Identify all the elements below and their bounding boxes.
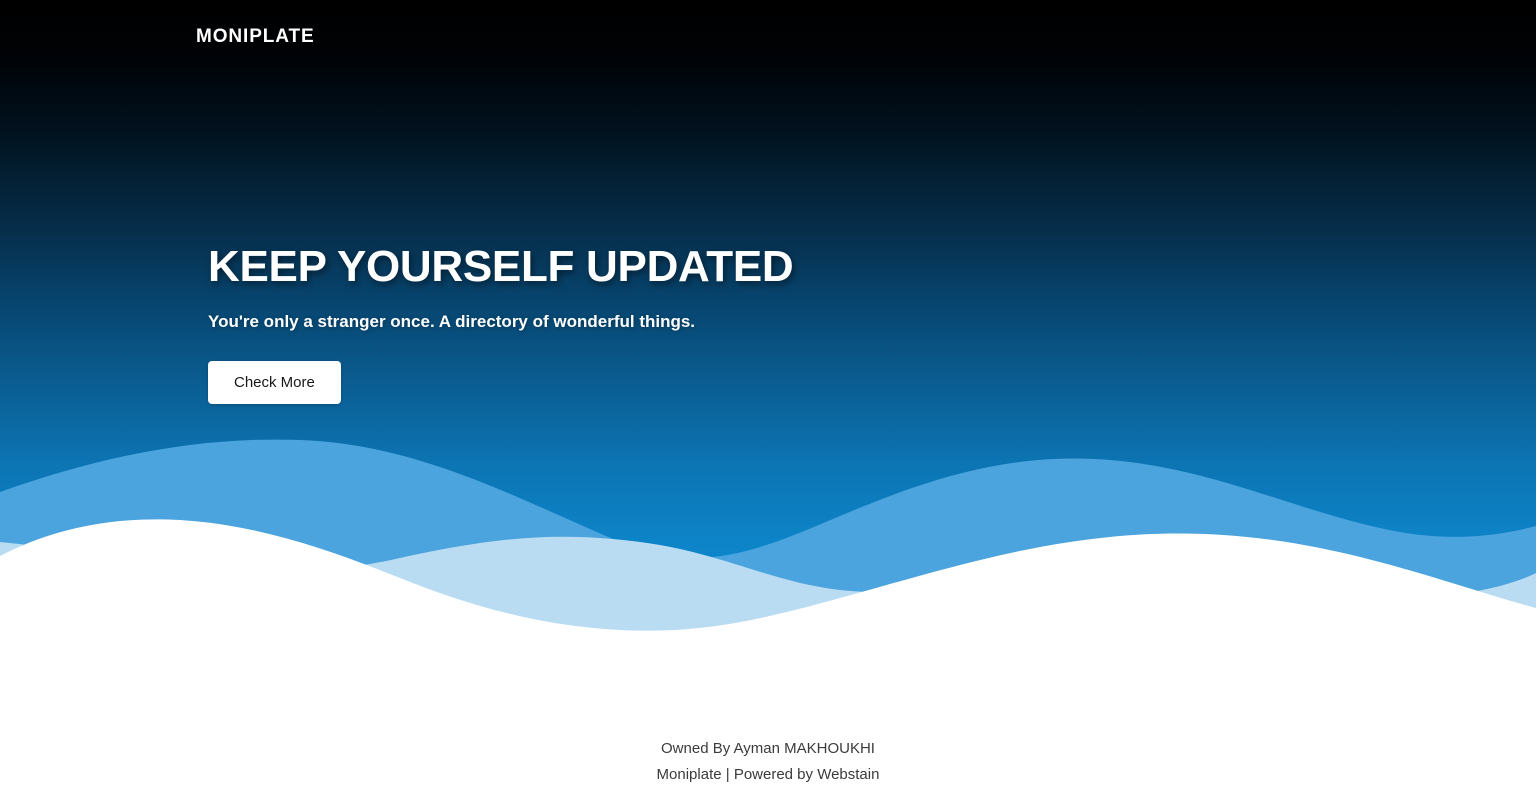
navbar: MONIPLATE <box>0 0 1536 72</box>
site-footer: Owned By Ayman MAKHOUKHI Moniplate | Pow… <box>0 660 1536 790</box>
hero-subtitle: You're only a stranger once. A directory… <box>208 311 793 333</box>
brand-logo[interactable]: MONIPLATE <box>196 27 315 46</box>
check-more-button[interactable]: Check More <box>208 361 341 404</box>
landing-page: MONIPLATE KEEP YOURSELF UPDATED You're o… <box>0 0 1536 790</box>
hero-title: KEEP YOURSELF UPDATED <box>208 243 793 291</box>
wave-decoration <box>0 430 1536 660</box>
hero-section: MONIPLATE KEEP YOURSELF UPDATED You're o… <box>0 0 1536 660</box>
footer-owner-text: Owned By Ayman MAKHOUKHI <box>661 736 875 762</box>
footer-credit-text: Moniplate | Powered by Webstain <box>657 762 880 788</box>
hero-content: KEEP YOURSELF UPDATED You're only a stra… <box>208 243 793 404</box>
wave-svg <box>0 430 1536 660</box>
